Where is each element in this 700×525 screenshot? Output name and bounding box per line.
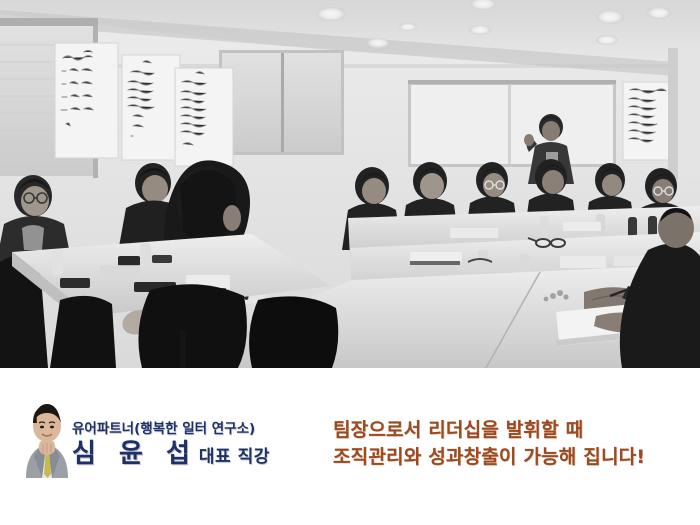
instructor-portrait-illustration [16,398,78,478]
speaker-name: 심 윤 섭 [72,439,197,469]
seminar-photo [0,0,700,368]
speaker-name-row: 심 윤 섭대표 직강 [72,439,322,472]
tagline-line-2: 조직관리와 성과창출이 가능해 집니다! [333,444,693,471]
speaker-organization: 유어파트너(행복한 일터 연구소) [72,420,322,438]
tagline-line-1: 팀장으로서 리더십을 발휘할 때 [333,417,693,444]
speaker-title: 대표 직강 [199,447,270,467]
speaker-block: 유어파트너(행복한 일터 연구소) 심 윤 섭대표 직강 [72,420,322,472]
caption-band: 유어파트너(행복한 일터 연구소) 심 윤 섭대표 직강 팀장으로서 리더십을 … [0,368,700,525]
tagline-block: 팀장으로서 리더십을 발휘할 때 조직관리와 성과창출이 가능해 집니다! [333,417,693,471]
banner-page: 유어파트너(행복한 일터 연구소) 심 윤 섭대표 직강 팀장으로서 리더십을 … [0,0,700,525]
seminar-photo-illustration [0,0,700,368]
instructor-portrait [16,398,78,478]
